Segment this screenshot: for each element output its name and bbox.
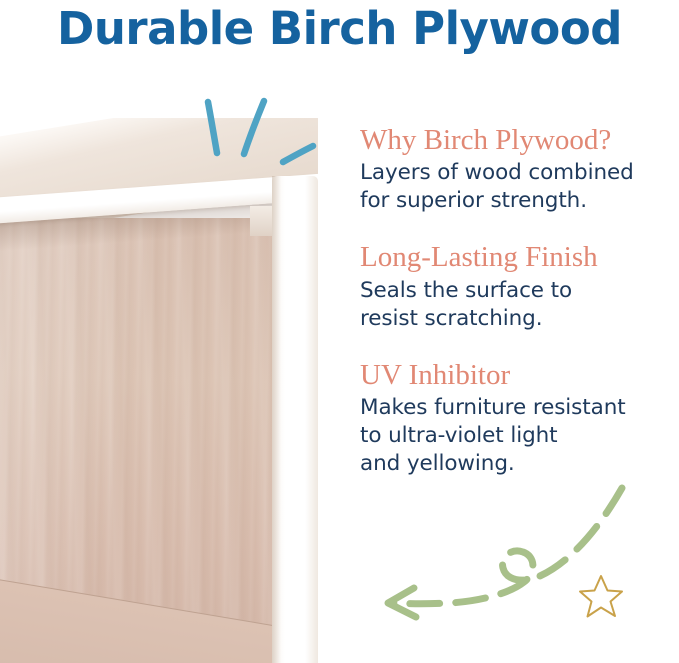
feature-line: Makes furniture resistant xyxy=(360,394,665,422)
feature-list: Why Birch Plywood? Layers of wood combin… xyxy=(360,124,665,478)
feature-line: and yellowing. xyxy=(360,450,665,478)
feature-line: to ultra-violet light xyxy=(360,422,665,450)
product-photo xyxy=(0,118,318,663)
page-title: Durable Birch Plywood xyxy=(0,2,679,55)
star-outline-icon xyxy=(578,573,624,619)
sparkle-strokes-icon xyxy=(195,96,320,166)
feature-line: Seals the surface to xyxy=(360,277,665,305)
feature-line: Layers of wood combined xyxy=(360,159,665,187)
feature-body-1: Layers of wood combined for superior str… xyxy=(360,159,665,215)
plywood-post-shadow xyxy=(272,176,281,663)
product-feature-poster: Durable Birch Plywood Why Birch Plywood?… xyxy=(0,0,679,663)
feature-heading-3: UV Inhibitor xyxy=(360,359,665,391)
feature-heading-2: Long-Lasting Finish xyxy=(360,241,665,273)
feature-item-2: Long-Lasting Finish Seals the surface to… xyxy=(360,241,665,332)
feature-line: resist scratching. xyxy=(360,305,665,333)
feature-item-1: Why Birch Plywood? Layers of wood combin… xyxy=(360,124,665,215)
feature-item-3: UV Inhibitor Makes furniture resistant t… xyxy=(360,359,665,478)
feature-heading-1: Why Birch Plywood? xyxy=(360,124,665,156)
feature-body-2: Seals the surface to resist scratching. xyxy=(360,277,665,333)
feature-line: for superior strength. xyxy=(360,187,665,215)
feature-body-3: Makes furniture resistant to ultra-viole… xyxy=(360,394,665,478)
